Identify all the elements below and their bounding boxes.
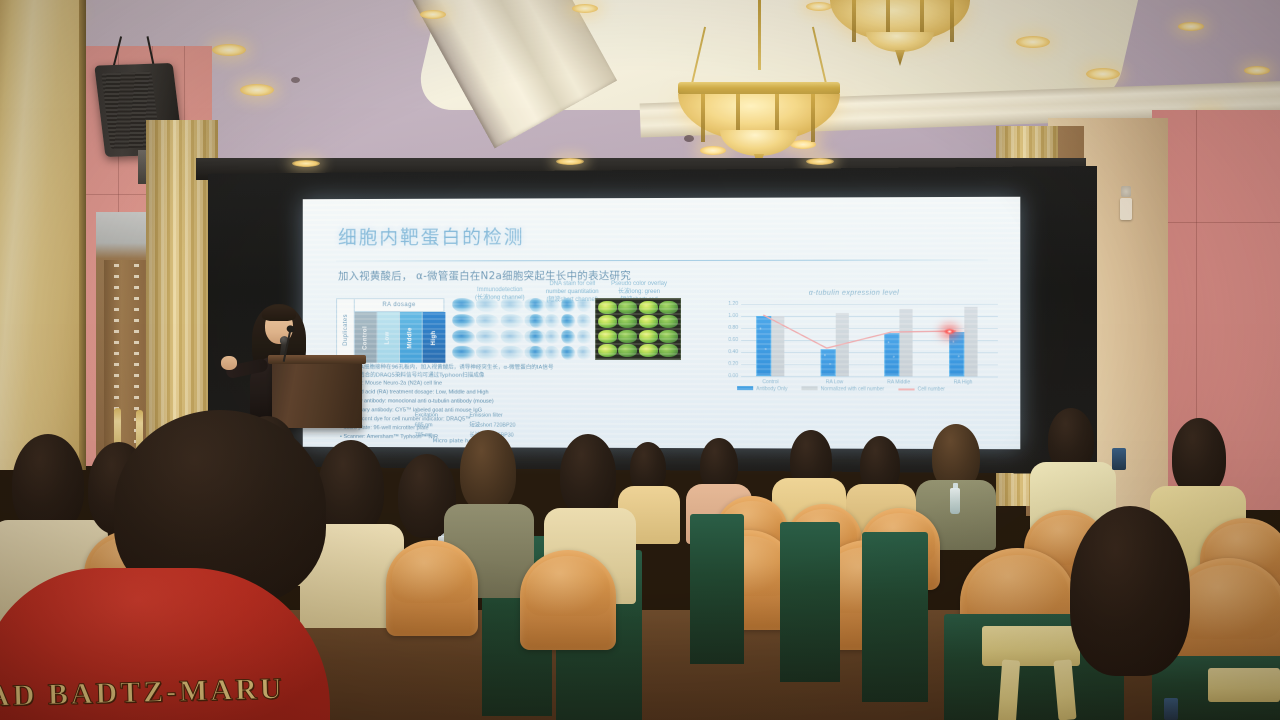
legend-swatch	[737, 386, 753, 390]
overlay-well	[598, 315, 617, 328]
blot-well	[501, 298, 524, 312]
overlay-well	[598, 330, 617, 343]
dosage-column-high: High	[423, 312, 446, 363]
presenter-fringe	[262, 305, 296, 321]
blot-well	[452, 330, 475, 344]
blot-well	[501, 330, 524, 344]
mobile-phone[interactable]	[1112, 448, 1126, 470]
presenter-hand	[221, 356, 237, 370]
ra-dosage-table: Duplicates RA dosage Control Low Middle …	[336, 298, 444, 362]
overlay-well	[659, 301, 678, 314]
dosage-column-low: Low	[377, 312, 400, 363]
mobile-phone[interactable]	[1164, 698, 1178, 720]
x-axis-tick: RA High	[954, 379, 973, 385]
legend-label: Antibody Only	[756, 386, 787, 392]
banquet-chair[interactable]	[520, 550, 616, 650]
ceiling-downlight	[572, 4, 598, 13]
blot-well	[501, 314, 524, 328]
legend-swatch	[898, 388, 914, 390]
dosage-column-middle: Middle	[400, 312, 423, 363]
ceiling-downlight	[420, 10, 446, 19]
blot-well	[452, 298, 475, 312]
attendee-head	[460, 430, 516, 512]
dosage-side-text: Duplicates	[342, 314, 348, 346]
chart-title: α-tubulin expression level	[707, 290, 1002, 297]
legend-label: Normalized with cell number	[821, 386, 884, 392]
overlay-well	[639, 315, 658, 328]
blot-well	[476, 314, 499, 328]
dosage-table-header: RA dosage	[355, 299, 444, 312]
wall-switch-plate[interactable]	[1120, 198, 1132, 220]
skirted-table	[690, 514, 744, 664]
chandelier-finial	[895, 50, 905, 66]
conference-hall-scene: 细胞内靶蛋白的检测 加入视黄酸后， α-微管蛋白在N2a细胞突起生长中的表达研究…	[0, 0, 1280, 720]
skirted-table	[862, 532, 928, 702]
overlay-well	[618, 330, 637, 343]
blot-well	[476, 330, 499, 344]
attendee-head	[560, 434, 616, 516]
overlay-well	[618, 301, 637, 314]
cell-number-line-series	[741, 304, 998, 377]
legend-item-cell-number: Cell number	[898, 386, 945, 392]
y-axis-tick: 0.60	[728, 337, 738, 343]
dosage-col-label: High	[431, 330, 437, 345]
blot-well	[561, 346, 575, 360]
blot-well	[545, 346, 559, 360]
smoke-detector-icon	[291, 77, 300, 83]
blot-well	[545, 298, 559, 312]
blot-well	[545, 314, 559, 328]
blot-well	[561, 330, 575, 344]
y-axis-tick: 1.00	[728, 313, 738, 319]
y-axis-tick: 0.80	[728, 325, 738, 331]
attendee-head	[1172, 418, 1226, 496]
ceiling-downlight	[1016, 36, 1050, 48]
laser-pointer-dot	[944, 328, 955, 335]
banquet-chair[interactable]	[386, 540, 478, 636]
y-axis-tick: 0.40	[728, 349, 738, 355]
blot-well	[577, 314, 591, 328]
legend-item-antibody-only: Antibody Only	[737, 386, 787, 392]
legend-label: Cell number	[918, 386, 945, 392]
ceiling-downlight	[212, 44, 246, 56]
dosage-col-label: Low	[385, 331, 391, 344]
chandelier-secondary	[830, 0, 970, 78]
blot-well	[476, 298, 499, 312]
blot-well	[452, 314, 475, 328]
y-axis-tick: 0.00	[728, 373, 738, 379]
expression-level-chart: α-tubulin expression level 1.20 1.00 0.8…	[707, 290, 1002, 401]
list-item: Sample: Mouse Neuro-2a (N2A) cell line	[340, 380, 494, 389]
x-axis-tick: RA Low	[826, 379, 843, 385]
blot-well	[577, 346, 591, 360]
audience-area: AD BADTZ-MARU	[0, 400, 1280, 720]
overlay-well	[598, 344, 617, 357]
overlay-well	[618, 344, 637, 357]
screen-edge-light	[806, 158, 834, 165]
screen-edge-light	[556, 158, 584, 165]
blot-well	[577, 330, 591, 344]
chart-plot-area: 1.20 1.00 0.80 0.60 0.40 0.20 0.	[741, 304, 998, 377]
attendee-head	[12, 434, 84, 534]
pseudocolor-overlay-grid	[595, 298, 681, 360]
blot-well	[452, 345, 475, 359]
x-axis-tick: RA Middle	[887, 379, 910, 385]
legend-swatch	[802, 386, 818, 390]
overlay-well	[659, 344, 678, 357]
blot-well	[530, 346, 544, 360]
slide-title: 细胞内靶蛋白的检测	[338, 222, 525, 249]
water-bottle[interactable]	[950, 488, 960, 514]
blot-well	[501, 346, 524, 360]
blot-well	[530, 314, 544, 328]
chandelier-lower-bowl	[720, 130, 798, 156]
y-axis-tick: 1.20	[728, 301, 738, 307]
blot-well	[561, 298, 575, 312]
blot-well	[561, 314, 575, 328]
blot-well	[530, 298, 544, 312]
blot-well	[545, 330, 559, 344]
chandelier-lower-bowl	[866, 32, 933, 52]
legend-item-normalized: Normalized with cell number	[802, 386, 885, 392]
overlay-well	[639, 301, 658, 314]
attendee-head	[318, 440, 384, 536]
chandelier-rod	[758, 0, 761, 70]
slide-title-divider	[336, 259, 988, 261]
skirted-table	[780, 522, 840, 682]
ceiling-downlight	[1178, 22, 1204, 31]
ceiling-downlight	[240, 84, 274, 96]
blot-well	[577, 298, 591, 312]
dosage-col-label: Middle	[408, 327, 414, 348]
dna-stain-blot-grid	[530, 298, 592, 360]
dosage-table-side-label: Duplicates	[337, 299, 355, 360]
overlay-well	[659, 315, 678, 328]
shirt-graphic-text: AD BADTZ-MARU	[0, 672, 285, 714]
overlay-well	[639, 344, 658, 357]
screen-edge-light	[292, 160, 320, 167]
y-axis-tick: 0.20	[728, 361, 738, 367]
list-item: Retinoid acid (RA) treatment dosage: Low…	[340, 388, 494, 397]
chandelier-main	[678, 0, 840, 176]
dosage-col-label: Control	[363, 325, 369, 349]
chair-sash	[1208, 668, 1280, 702]
overlay-well	[639, 330, 658, 343]
ceiling-downlight	[1086, 68, 1120, 80]
attendee-head	[1070, 506, 1190, 676]
overlay-well	[598, 301, 617, 314]
blot-well	[476, 346, 499, 360]
overlay-well	[659, 330, 678, 343]
blot-well	[530, 330, 544, 344]
overlay-well	[618, 315, 637, 328]
chart-legend: Antibody Only Normalized with cell numbe…	[737, 386, 1002, 393]
ceiling-downlight	[1244, 66, 1270, 75]
x-axis-tick: Control	[762, 379, 778, 385]
